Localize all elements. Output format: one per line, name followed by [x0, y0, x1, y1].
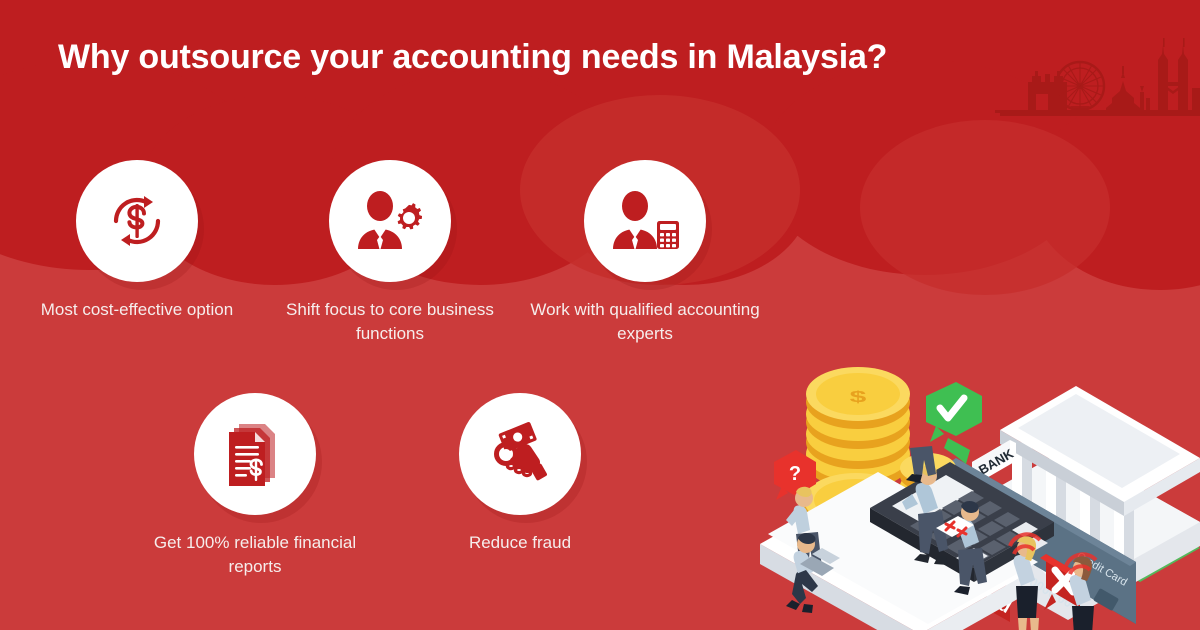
benefit-icon-circle [76, 160, 198, 282]
benefit-icon-circle [194, 393, 316, 515]
benefit-caption: Get 100% reliable financial reports [140, 531, 370, 579]
benefit-icon-circle [459, 393, 581, 515]
benefit-caption: Reduce fraud [405, 531, 635, 555]
financial-documents-dollar-icon [223, 420, 287, 488]
header-divider [995, 110, 1200, 113]
isometric-bank-credit-card-scene: BANK [760, 270, 1200, 630]
background-cloud-mid [860, 120, 1110, 295]
handcuffed-hand-money-icon [485, 421, 555, 487]
businessman-gear-icon [354, 189, 426, 253]
benefit-caption: Work with qualified accounting experts [530, 298, 760, 346]
benefit-item-qualified-experts[interactable]: Work with qualified accounting experts [530, 160, 760, 346]
benefit-caption: Shift focus to core business functions [275, 298, 505, 346]
header: Why outsource your accounting needs in M… [0, 0, 1200, 130]
green-check-bubble [926, 382, 982, 464]
benefit-icon-circle [584, 160, 706, 282]
benefit-item-reliable-reports[interactable]: Get 100% reliable financial reports [140, 393, 370, 579]
benefit-item-cost-effective[interactable]: Most cost-effective option [22, 160, 252, 322]
money-refresh-cycle-icon [104, 188, 170, 254]
question-bubble-label: ? [789, 463, 801, 485]
coin-dollar-symbol: $ [850, 388, 867, 406]
benefit-item-core-focus[interactable]: Shift focus to core business functions [275, 160, 505, 346]
benefit-caption: Most cost-effective option [22, 298, 252, 322]
businessman-calculator-icon [609, 189, 681, 253]
benefit-icon-circle [329, 160, 451, 282]
page-title: Why outsource your accounting needs in M… [58, 38, 887, 77]
kuala-lumpur-skyline-icon [1000, 8, 1200, 118]
benefit-item-reduce-fraud[interactable]: Reduce fraud [405, 393, 635, 555]
